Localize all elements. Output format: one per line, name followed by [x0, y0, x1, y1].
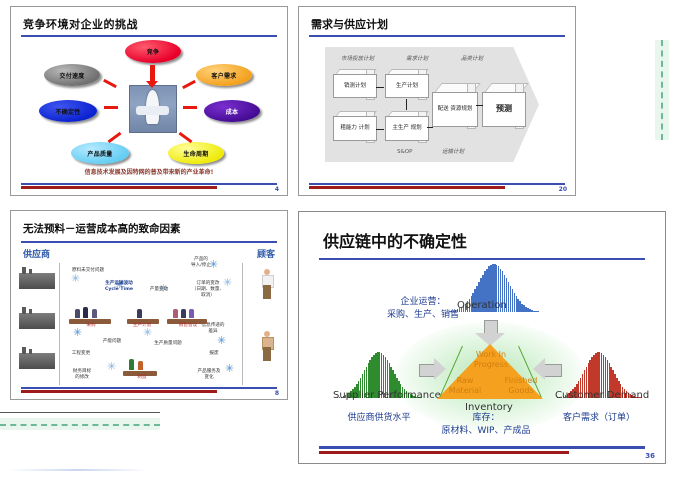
customer-person-icon [261, 331, 273, 361]
selection-marker-right [661, 40, 663, 140]
oval-uncertainty: 不确定性 [39, 100, 97, 122]
slide3-title: 无法预料－运营成本高的致命因素 [23, 221, 181, 236]
factory-icon [19, 313, 55, 329]
oval-product-quality: 产品质量 [71, 142, 129, 164]
burst-icon: ✳ [71, 273, 80, 284]
people-group-production [131, 307, 157, 321]
slide3-title-rule [21, 241, 277, 243]
divider-line [0, 412, 160, 413]
arrow-lifecycle [179, 132, 193, 143]
slide-supply-chain-uncertainty[interactable]: 供应链中的不确定性 Operation Supplier Performance… [298, 211, 666, 464]
burst-icon: ✳ [217, 335, 226, 346]
label-category-plan: 品类计划 [461, 54, 483, 62]
slide4-title: 供应链中的不确定性 [323, 228, 467, 252]
arrow-quality [108, 132, 122, 143]
oval-competition: 竞争 [125, 40, 181, 63]
annotation-financial-target: 财务目标 的修改 [65, 369, 99, 381]
triangle-segment-raw: Raw Material [445, 376, 485, 396]
factory-icon [19, 273, 55, 289]
arrow-delivery [103, 79, 117, 88]
label-supplier-level: 供应商供货水平 [333, 412, 425, 425]
scene-label-production: 生产计划 [125, 323, 159, 329]
label-customer-order: 客户需求（订单） [551, 412, 647, 425]
scene-label-purchasing: 采购 [79, 323, 103, 329]
slide2-page-number: 20 [559, 186, 567, 193]
arrow-drp-to-master [427, 127, 433, 128]
factory-icon [19, 353, 55, 369]
label-transport: 运输计划 [442, 147, 464, 155]
slide3-footer [11, 387, 287, 399]
arrow-competition-head [146, 81, 158, 88]
arrow-uncertainty [104, 106, 118, 109]
slide4-page-number: 36 [645, 452, 655, 460]
box-drp: 配送 资源规划 [432, 83, 476, 127]
people-group-sales [171, 305, 205, 321]
oval-cost: 成本 [204, 100, 260, 122]
label-enterprise-operation: 企业运营： 采购、生产、销售 [375, 296, 471, 322]
people-group-manufacturing [127, 357, 157, 373]
scene-label-sales: 销售会议 [173, 323, 203, 329]
bell-customer-caption: Customer Demand [555, 390, 649, 401]
box-forecast: 预测 [482, 83, 524, 127]
slide4-title-rule [319, 258, 645, 260]
slide2-title-rule [309, 35, 565, 37]
column-header-supplier: 供应商 [23, 247, 50, 260]
arrow-left-customer [545, 364, 562, 377]
divider-left [59, 263, 60, 385]
slide2-footer [299, 183, 575, 195]
label-inventory: 库存： 原材料、WIP、产成品 [431, 412, 541, 438]
selection-marker-bottom [0, 424, 160, 426]
slide4-footer [299, 446, 665, 460]
slide3-page-number: 8 [275, 390, 279, 397]
annotation-material-delay: 原料未交付问题 [67, 268, 109, 274]
arrow-customer [182, 80, 196, 89]
label-market-plan: 市场投放计划 [341, 54, 374, 62]
arrow-forecast-to-drp [476, 105, 483, 106]
slide-demand-supply-plan[interactable]: 需求与供应计划 市场投放计划 需求计划 品类计划 销测计划 生产计划 粗能力 计… [298, 6, 576, 196]
space-shuttle-icon [129, 85, 177, 133]
annotation-capacity-issue: 产能问题 [95, 339, 129, 345]
burst-icon: ✳ [107, 361, 116, 372]
slide1-page-number: 4 [275, 186, 279, 193]
slide-unpredictable-cost[interactable]: 无法预料－运营成本高的致命因素 供应商 顾客 ✳ ✳ ✳ ✳ ✳ ✳ ✳ ✳ ✳… [10, 210, 288, 400]
triangle-segment-finished: Finished Goods [499, 376, 543, 396]
slide1-caption: 信息技术发展及因特网的普及带来新的产业革命! [11, 167, 287, 176]
slide2-title: 需求与供应计划 [311, 16, 388, 32]
annotation-engineering-change: 工程变更 [65, 351, 97, 357]
slide1-footer [11, 183, 287, 195]
scene-label-manufacturing: 制造 [129, 375, 155, 381]
box-production-plan: 生产计划 [385, 69, 427, 98]
oval-delivery-speed: 交付速度 [44, 64, 100, 86]
annotation-quality-issue: 生产质量问题 [147, 341, 189, 347]
label-demand-plan: 需求计划 [406, 54, 428, 62]
box-rough-capacity: 粗能力 计划 [333, 111, 375, 141]
people-group-purchasing [73, 305, 109, 321]
customer-person-icon [261, 269, 273, 299]
column-header-customer: 顾客 [257, 247, 275, 260]
box-forecast-plan: 销测计划 [333, 69, 375, 98]
arrow-forecast-to-production [376, 87, 384, 88]
divider-right [242, 263, 243, 385]
annotation-scrap: 报废 [201, 351, 227, 357]
slide-competitive-environment[interactable]: 竞争环境对企业的挑战 竞争 交付速度 不确定性 产品质量 客户需求 成本 生命周… [10, 6, 288, 196]
bell-supplier-caption: Supplier Performance [333, 390, 441, 401]
annotation-output-variance: 产量变动 [141, 287, 177, 293]
arrow-cost [183, 106, 197, 109]
arrow-capacity-to-master [376, 129, 384, 130]
annotation-product-service: 产品服务及 变化 [189, 369, 229, 381]
shadow-strip [8, 469, 148, 471]
annotation-product-intro: 产品的 导入/停止 [181, 257, 221, 269]
slide1-title: 竞争环境对企业的挑战 [23, 16, 138, 32]
oval-customer-demand: 客户需求 [196, 64, 252, 86]
triangle-segment-wip: Work In Progress [465, 350, 517, 370]
annotation-order-change: 订单的变改 （日期、数量、 取消） [187, 281, 229, 299]
label-sop: S&OP [397, 149, 412, 155]
oval-life-cycle: 生命周期 [168, 142, 224, 164]
arrow-production-to-master [406, 99, 407, 110]
box-master-plan: 主生产 规划 [385, 111, 427, 141]
annotation-cycle-time: 生产运输波动 Cycle Time [97, 281, 141, 293]
slide1-title-rule [21, 35, 277, 37]
